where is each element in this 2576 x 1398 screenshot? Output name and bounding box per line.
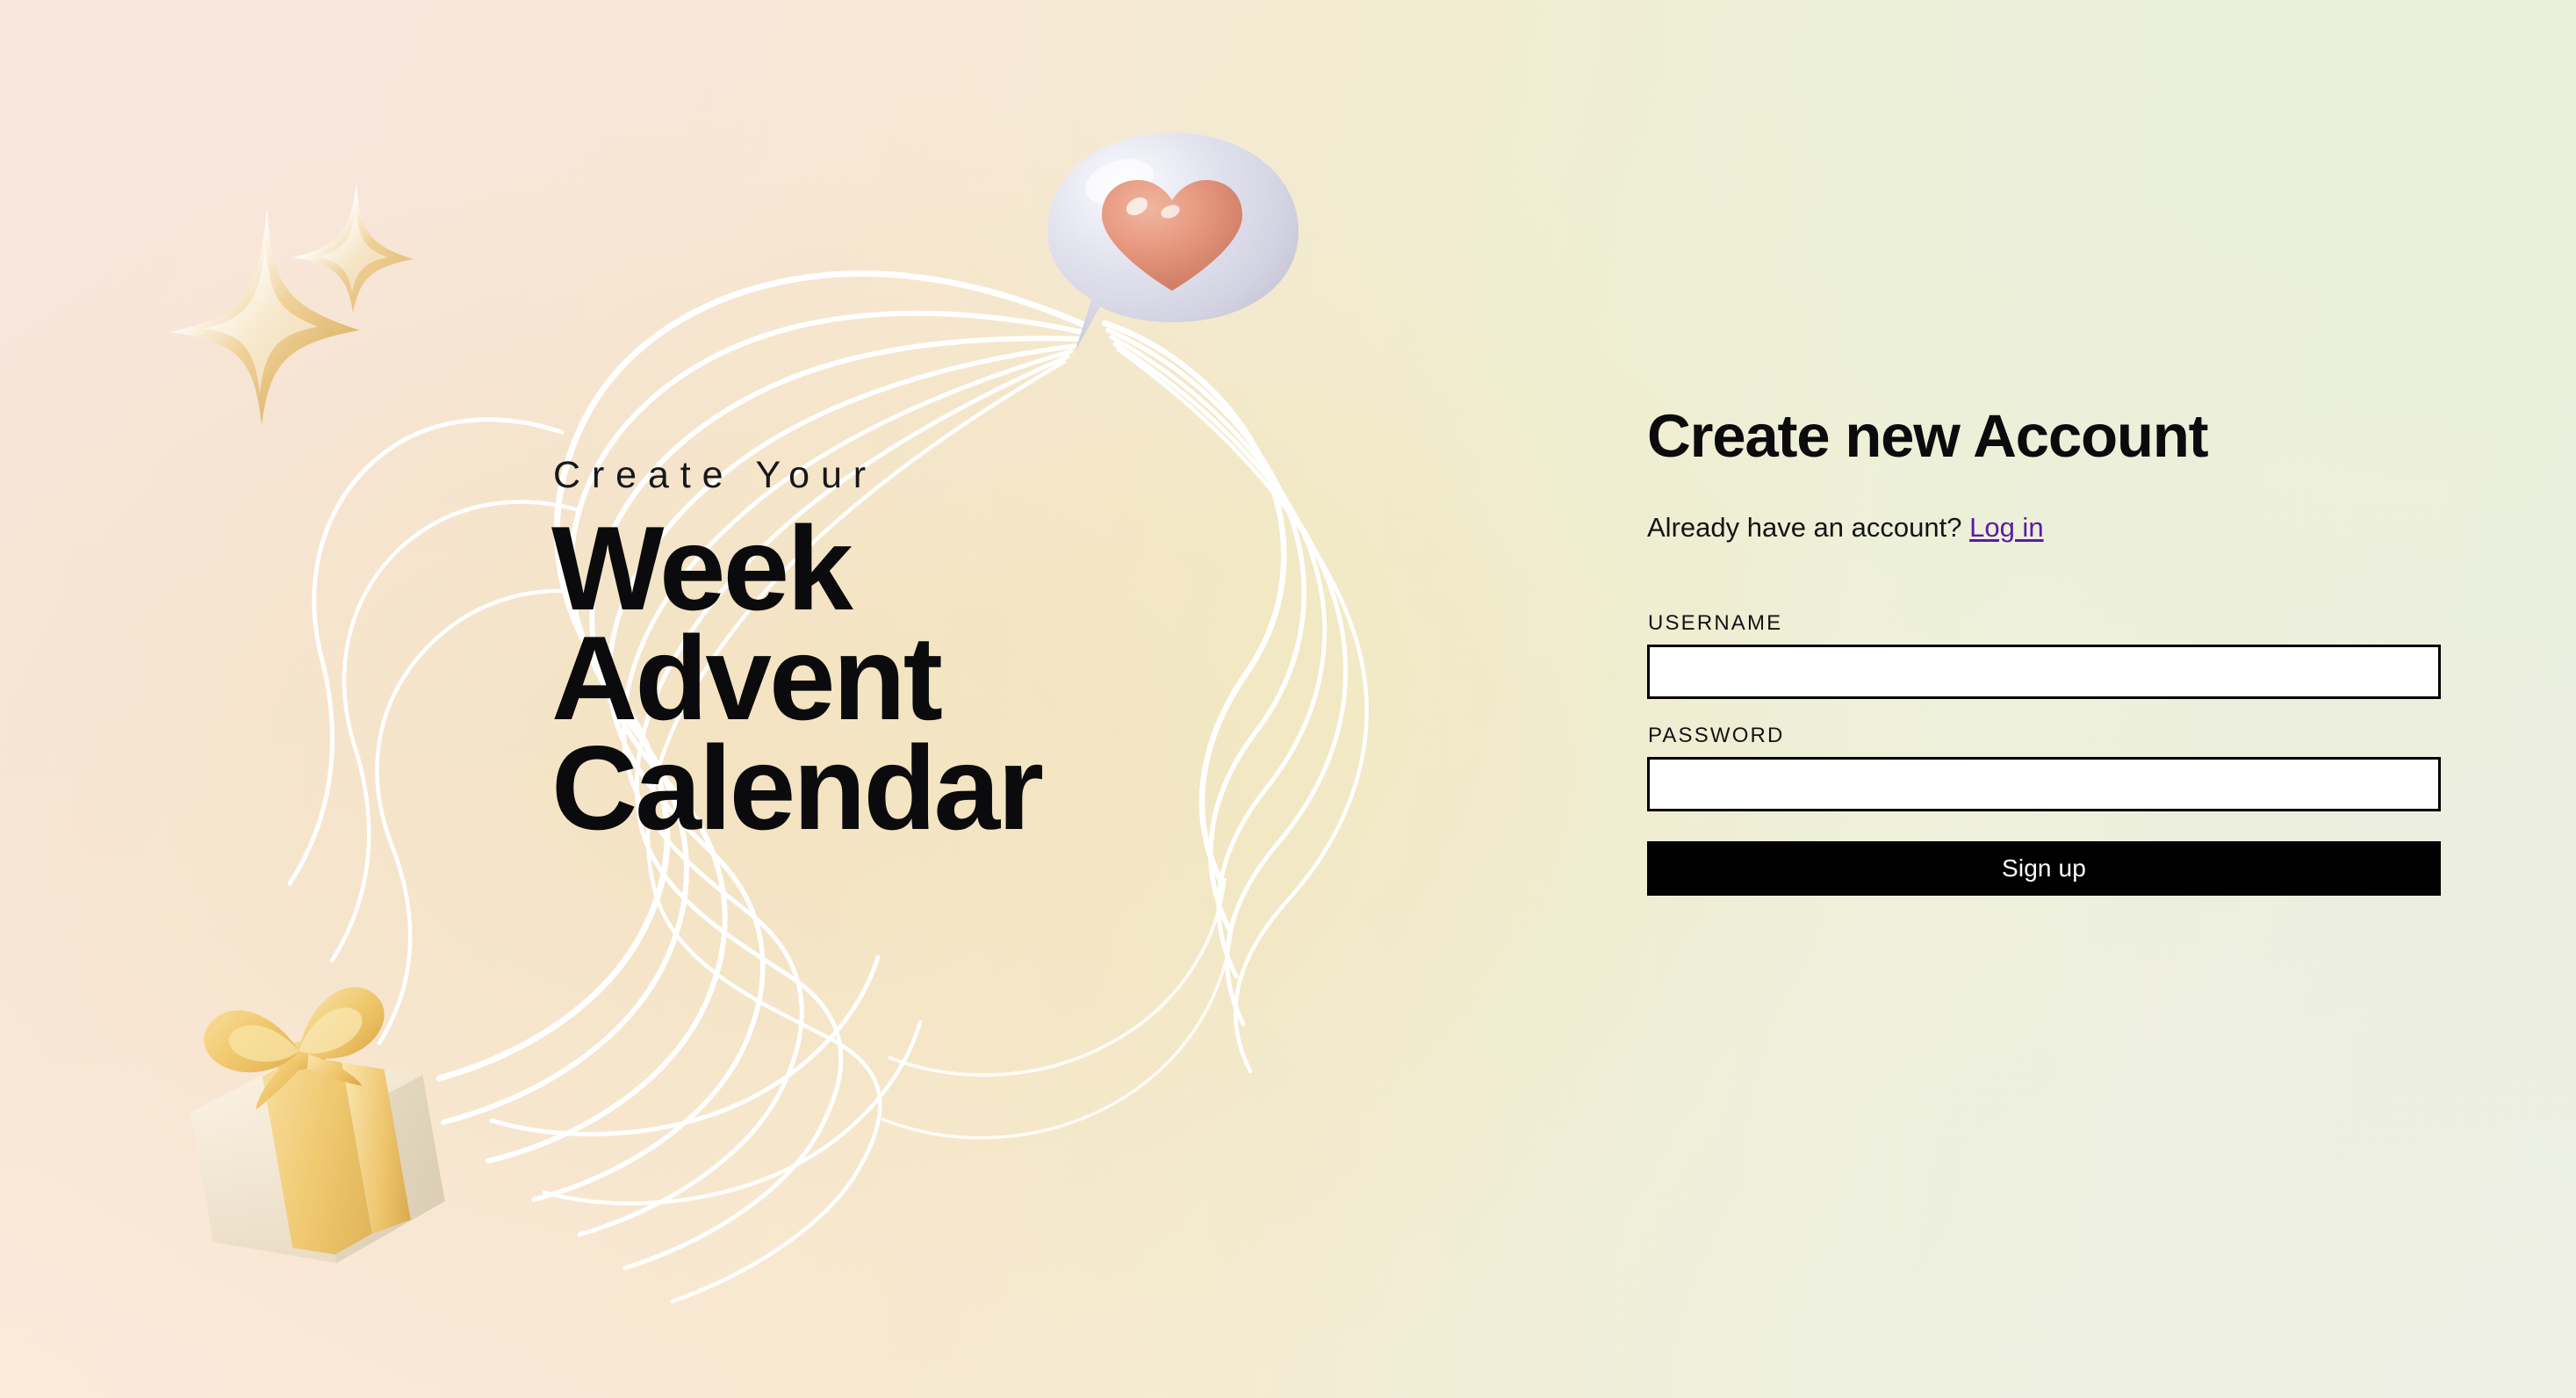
heart-speech-bubble-icon (1040, 127, 1304, 356)
hero-title: Week Advent Calendar (551, 514, 1517, 843)
hero-title-line-1: Week (551, 514, 1517, 623)
hero-title-line-2: Advent (551, 623, 1517, 733)
login-link[interactable]: Log in (1969, 512, 2043, 543)
sign-up-button[interactable]: Sign up (1647, 841, 2441, 896)
hero-eyebrow: Create Your (553, 457, 1517, 494)
username-label: USERNAME (1648, 611, 2441, 636)
password-field-group: PASSWORD (1647, 724, 2441, 811)
hero-text: Create Your Week Advent Calendar (551, 457, 1517, 843)
signup-panel: Create new Account Already have an accou… (1647, 0, 2576, 1398)
login-prompt-text: Already have an account? (1647, 512, 1961, 543)
page-title: Create new Account (1647, 406, 2441, 466)
username-input[interactable] (1647, 645, 2441, 699)
signup-page: Create Your Week Advent Calendar Create … (0, 0, 2576, 1398)
password-label: PASSWORD (1648, 724, 2441, 748)
sparkle-small-icon (290, 180, 417, 316)
hero-title-line-3: Calendar (551, 733, 1517, 843)
username-field-group: USERNAME (1647, 611, 2441, 699)
password-input[interactable] (1647, 757, 2441, 811)
login-prompt: Already have an account? Log in (1647, 514, 2441, 541)
gift-box-icon (140, 944, 483, 1291)
